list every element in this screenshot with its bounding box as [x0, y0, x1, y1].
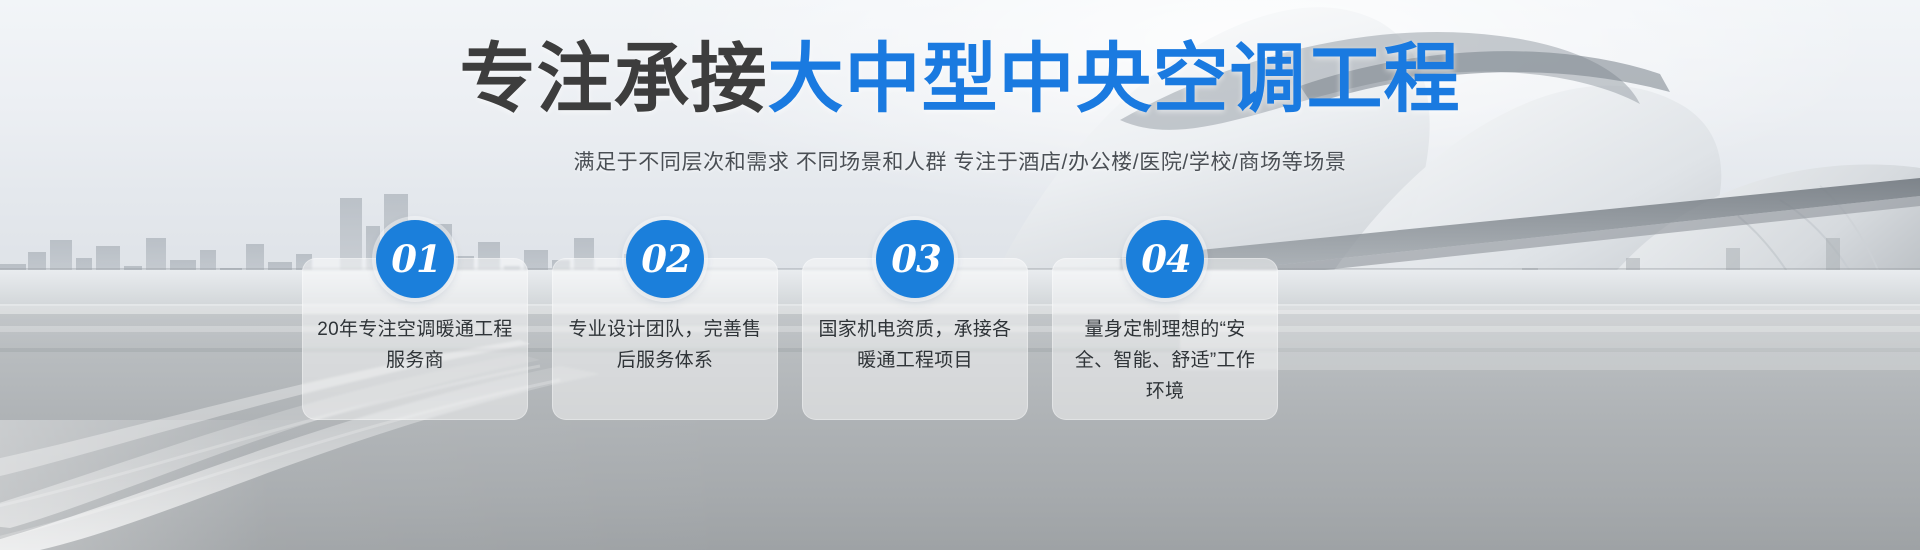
feature-card-03-text: 国家机电资质，承接各暖通工程项目	[816, 314, 1014, 376]
feature-card-03[interactable]: 03 国家机电资质，承接各暖通工程项目	[802, 258, 1028, 420]
page-title: 专注承接大中型中央空调工程	[0, 36, 1920, 122]
badge-number-03-label: 03	[889, 241, 941, 278]
feature-card-02[interactable]: 02 专业设计团队，完善售后服务体系	[552, 258, 778, 420]
badge-number-03: 03	[876, 220, 954, 298]
hero-banner: 专注承接大中型中央空调工程 满足于不同层次和需求 不同场景和人群 专注于酒店/办…	[0, 0, 1920, 550]
badge-number-02: 02	[626, 220, 704, 298]
badge-number-02-label: 02	[639, 241, 691, 278]
badge-number-04-label: 04	[1139, 241, 1191, 278]
feature-card-01-text: 20年专注空调暖通工程服务商	[316, 314, 514, 376]
badge-number-04: 04	[1126, 220, 1204, 298]
headline-dark-text: 专注承接	[460, 34, 768, 123]
feature-card-04-text: 量身定制理想的“安全、智能、舒适”工作环境	[1066, 314, 1264, 407]
badge-number-01-label: 01	[389, 241, 441, 278]
feature-card-02-text: 专业设计团队，完善售后服务体系	[566, 314, 764, 376]
badge-number-01: 01	[376, 220, 454, 298]
feature-card-04[interactable]: 04 量身定制理想的“安全、智能、舒适”工作环境	[1052, 258, 1278, 420]
page-subtitle: 满足于不同层次和需求 不同场景和人群 专注于酒店/办公楼/医院/学校/商场等场景	[0, 148, 1920, 178]
feature-card-list: 01 20年专注空调暖通工程服务商 02 专业设计团队，完善售后服务体系 03 …	[302, 258, 1302, 438]
feature-card-01[interactable]: 01 20年专注空调暖通工程服务商	[302, 258, 528, 420]
headline-blue-text: 大中型中央空调工程	[768, 34, 1461, 123]
